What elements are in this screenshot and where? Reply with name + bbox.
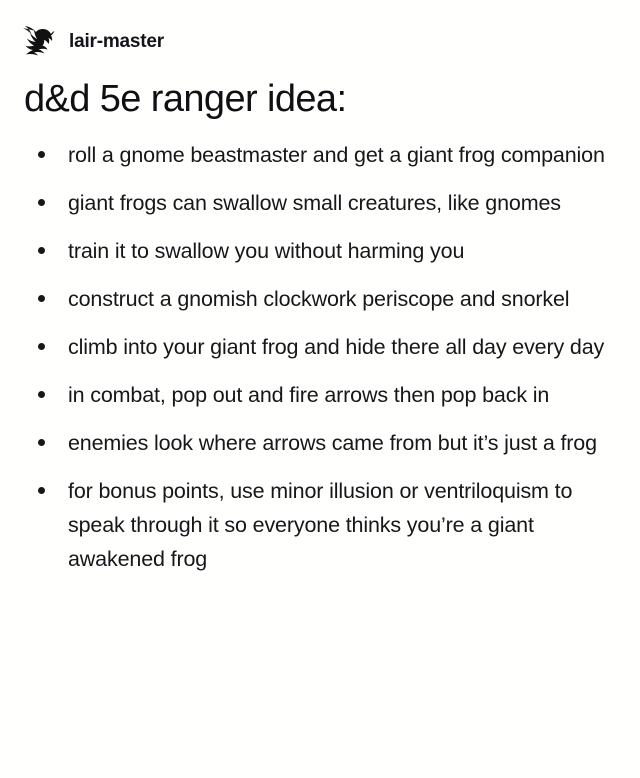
post-header: lair-master: [22, 24, 624, 58]
bullet-point-icon: [38, 439, 45, 446]
list-item-text: construct a gnomish clockwork periscope …: [68, 282, 624, 316]
page-title: d&d 5e ranger idea:: [24, 76, 624, 122]
list-item: enemies look where arrows came from but …: [22, 426, 624, 460]
list-item-text: in combat, pop out and fire arrows then …: [68, 378, 624, 412]
list-item: in combat, pop out and fire arrows then …: [22, 378, 624, 412]
bullet-point-icon: [38, 295, 45, 302]
username[interactable]: lair-master: [69, 32, 164, 51]
list-item-text: train it to swallow you without harming …: [68, 234, 624, 268]
post-container: lair-master d&d 5e ranger idea: roll a g…: [0, 0, 640, 778]
dragon-icon[interactable]: [22, 25, 55, 57]
list-item: construct a gnomish clockwork periscope …: [22, 282, 624, 316]
list-item: climb into your giant frog and hide ther…: [22, 330, 624, 364]
list-item-text: giant frogs can swallow small creatures,…: [68, 186, 624, 220]
bullet-point-icon: [38, 199, 45, 206]
list-item-text: climb into your giant frog and hide ther…: [68, 330, 624, 364]
bullet-point-icon: [38, 487, 45, 494]
ranger-idea-list: roll a gnome beastmaster and get a giant…: [22, 138, 624, 576]
bullet-point-icon: [38, 247, 45, 254]
bullet-point-icon: [38, 151, 45, 158]
bullet-point-icon: [38, 343, 45, 350]
list-item-text: for bonus points, use minor illusion or …: [68, 474, 624, 576]
bullet-point-icon: [38, 391, 45, 398]
list-item: roll a gnome beastmaster and get a giant…: [22, 138, 624, 172]
list-item-text: roll a gnome beastmaster and get a giant…: [68, 138, 624, 172]
list-item: train it to swallow you without harming …: [22, 234, 624, 268]
list-item: for bonus points, use minor illusion or …: [22, 474, 624, 576]
list-item: giant frogs can swallow small creatures,…: [22, 186, 624, 220]
list-item-text: enemies look where arrows came from but …: [68, 426, 624, 460]
